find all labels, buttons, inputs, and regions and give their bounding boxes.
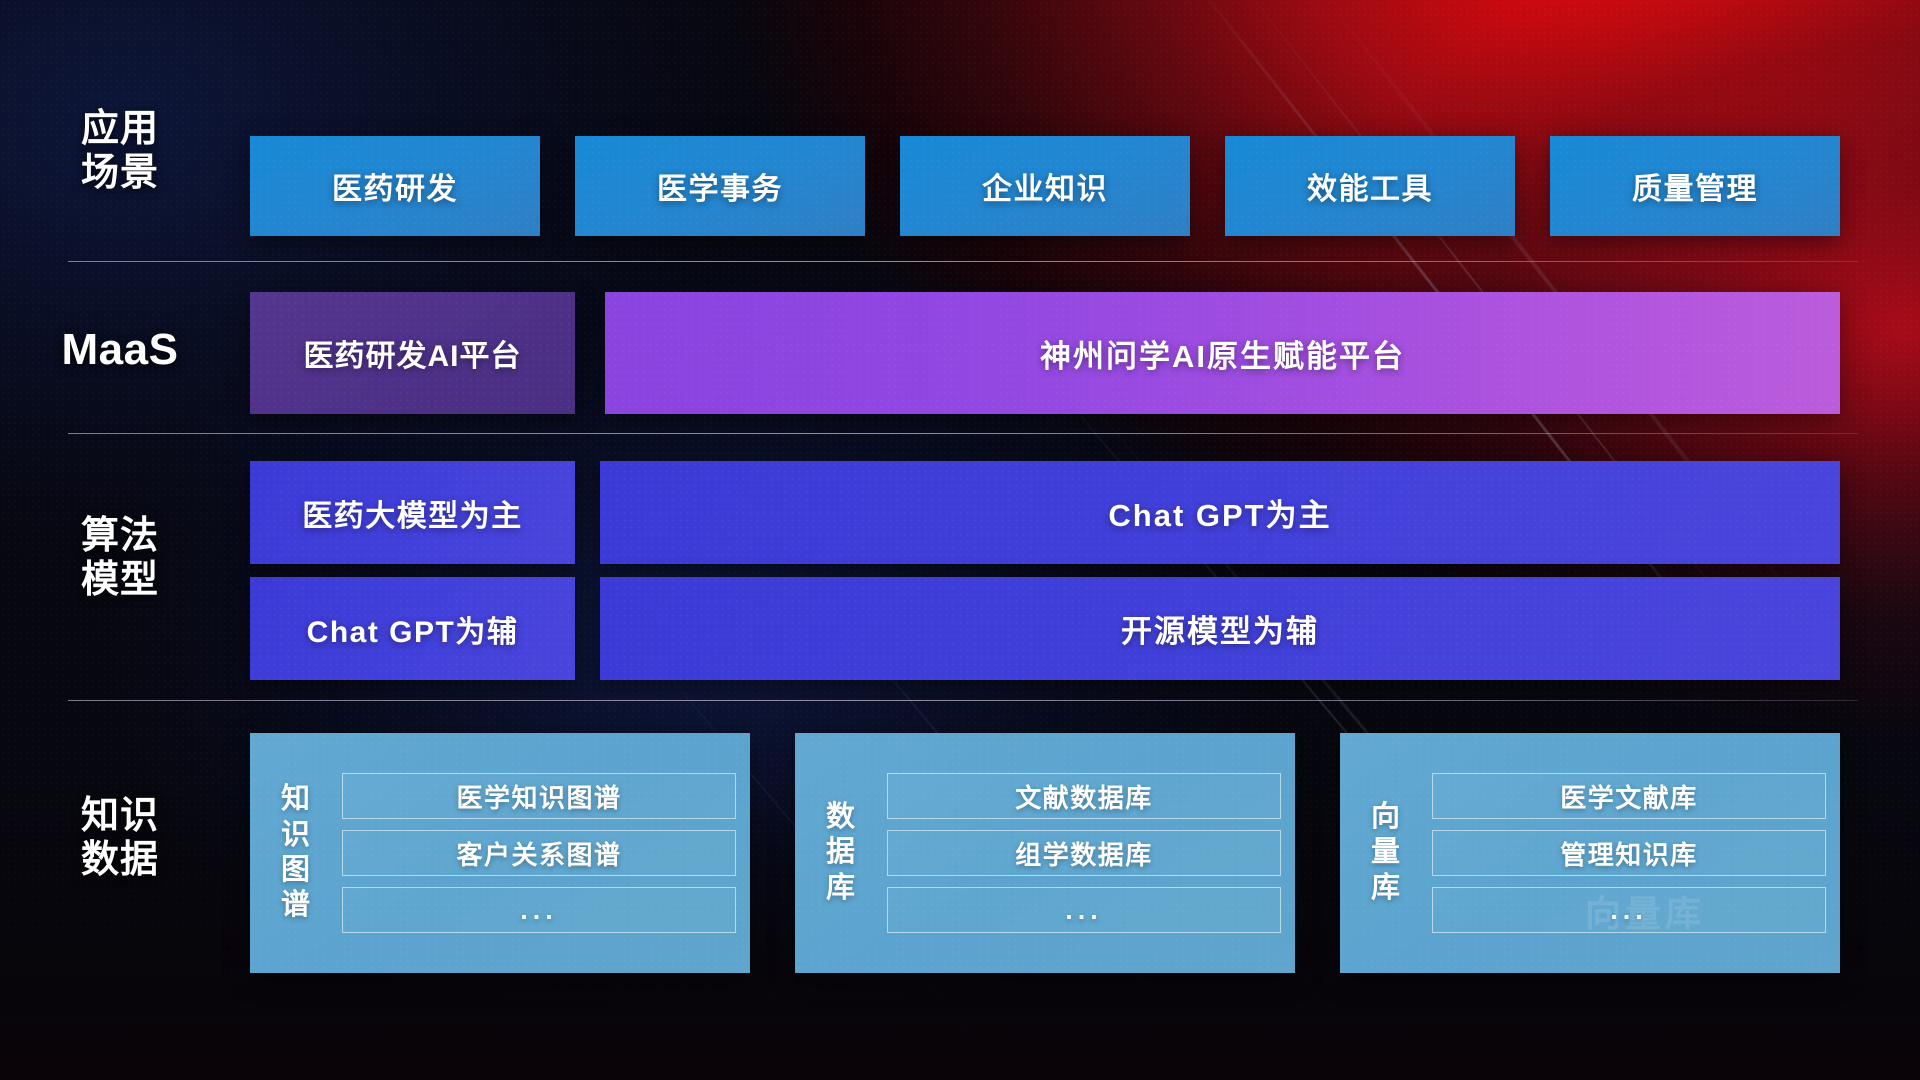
- row-label-knowledge-data: 知识 数据: [35, 795, 205, 882]
- knowledge-item[interactable]: 组学数据库: [887, 830, 1281, 876]
- row-label-maas: MaaS: [35, 325, 205, 376]
- title-char: 库: [795, 871, 887, 906]
- knowledge-group-items: 医学文献库 管理知识库 ...: [1432, 773, 1826, 933]
- title-char: 库: [1340, 871, 1432, 906]
- maas-card-drug-rd-ai-platform[interactable]: 医药研发AI平台: [250, 292, 575, 414]
- row-label-line-2: 数据: [35, 839, 205, 883]
- title-char: 识: [250, 818, 342, 853]
- title-char: 据: [795, 835, 887, 870]
- title-char: 向: [1340, 800, 1432, 835]
- algo-card-label: 开源模型为辅: [1121, 606, 1319, 651]
- knowledge-item-more[interactable]: ...: [342, 887, 736, 933]
- row-label-line-2: 场景: [35, 152, 205, 196]
- knowledge-item[interactable]: 医学文献库: [1432, 773, 1826, 819]
- algo-card-open-source-secondary[interactable]: 开源模型为辅: [600, 577, 1840, 680]
- title-char: 谱: [250, 888, 342, 923]
- knowledge-group-title: 向 量 库: [1340, 800, 1432, 906]
- app-card-medical-affairs[interactable]: 医学事务: [575, 136, 865, 236]
- knowledge-group-knowledge-graph[interactable]: 知 识 图 谱 医学知识图谱 客户关系图谱 ...: [250, 733, 750, 973]
- knowledge-group-vector-store[interactable]: 向 量 库 医学文献库 管理知识库 ... 向量库: [1340, 733, 1840, 973]
- knowledge-item[interactable]: 医学知识图谱: [342, 773, 736, 819]
- algo-card-chatgpt-primary[interactable]: Chat GPT为主: [600, 461, 1840, 564]
- app-card-label: 质量管理: [1632, 164, 1758, 208]
- divider-after-application-scenario: [68, 261, 1858, 262]
- architecture-diagram: 应用 场景 医药研发 医学事务 企业知识 效能工具 质量管理 MaaS 医药研发…: [0, 0, 1920, 1080]
- app-card-label: 医学事务: [657, 164, 783, 208]
- app-card-efficiency-tools[interactable]: 效能工具: [1225, 136, 1515, 236]
- algo-card-label: 医药大模型为主: [302, 491, 523, 535]
- row-label-line-1: 应用: [35, 108, 205, 152]
- diagram-rows: 应用 场景 医药研发 医学事务 企业知识 效能工具 质量管理 MaaS 医药研发…: [0, 0, 1920, 1080]
- row-label-line-1: MaaS: [35, 325, 205, 376]
- row-label-application-scenario: 应用 场景: [35, 108, 205, 195]
- app-card-quality-management[interactable]: 质量管理: [1550, 136, 1840, 236]
- divider-after-algorithm-model: [68, 700, 1858, 701]
- knowledge-group-database[interactable]: 数 据 库 文献数据库 组学数据库 ...: [795, 733, 1295, 973]
- maas-card-shenzhou-wenxue-platform[interactable]: 神州问学AI原生赋能平台: [605, 292, 1840, 414]
- knowledge-group-items: 医学知识图谱 客户关系图谱 ...: [342, 773, 736, 933]
- app-card-label: 医药研发: [332, 164, 458, 208]
- algo-card-chatgpt-secondary[interactable]: Chat GPT为辅: [250, 577, 575, 680]
- knowledge-item[interactable]: 客户关系图谱: [342, 830, 736, 876]
- knowledge-group-items: 文献数据库 组学数据库 ...: [887, 773, 1281, 933]
- row-label-line-1: 知识: [35, 795, 205, 839]
- app-card-label: 企业知识: [982, 164, 1108, 208]
- title-char: 知: [250, 782, 342, 817]
- divider-after-maas: [68, 433, 1858, 434]
- knowledge-item-more[interactable]: ...: [887, 887, 1281, 933]
- maas-card-label: 神州问学AI原生赋能平台: [1040, 331, 1405, 376]
- app-card-enterprise-knowledge[interactable]: 企业知识: [900, 136, 1190, 236]
- app-card-label: 效能工具: [1307, 164, 1433, 208]
- maas-card-label: 医药研发AI平台: [304, 331, 522, 375]
- algo-card-label: Chat GPT为辅: [307, 607, 519, 651]
- knowledge-group-title: 数 据 库: [795, 800, 887, 906]
- algo-card-drug-large-model-primary[interactable]: 医药大模型为主: [250, 461, 575, 564]
- knowledge-group-title: 知 识 图 谱: [250, 782, 342, 924]
- knowledge-item[interactable]: 管理知识库: [1432, 830, 1826, 876]
- algo-card-label: Chat GPT为主: [1108, 490, 1331, 535]
- title-char: 量: [1340, 835, 1432, 870]
- knowledge-item[interactable]: 文献数据库: [887, 773, 1281, 819]
- row-label-line-2: 模型: [35, 559, 205, 603]
- app-card-drug-rd[interactable]: 医药研发: [250, 136, 540, 236]
- row-label-algorithm-model: 算法 模型: [35, 515, 205, 602]
- title-char: 数: [795, 800, 887, 835]
- row-label-line-1: 算法: [35, 515, 205, 559]
- knowledge-item-more[interactable]: ...: [1432, 887, 1826, 933]
- title-char: 图: [250, 853, 342, 888]
